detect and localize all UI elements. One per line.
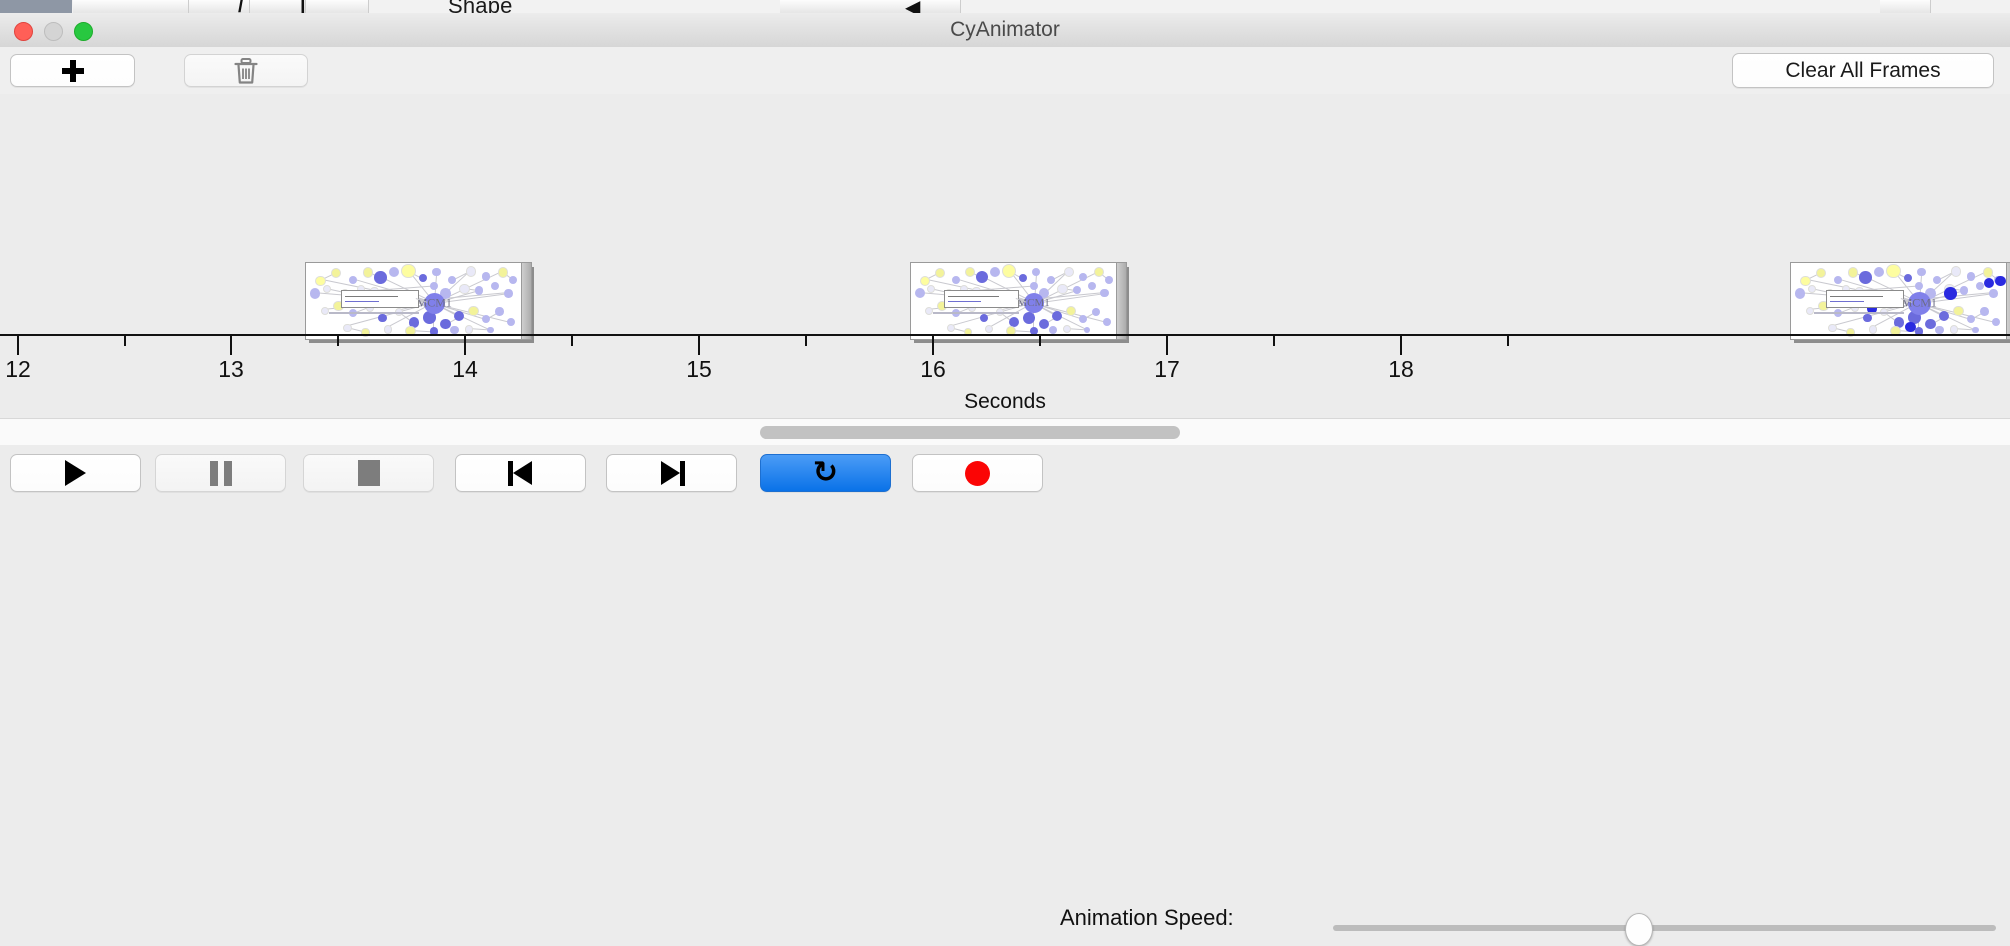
graph-node <box>920 276 930 286</box>
timeline-axis <box>0 334 2010 336</box>
axis-tick-minor <box>1273 336 1275 346</box>
graph-node <box>349 276 357 284</box>
network-graph: MCM1 <box>306 263 531 339</box>
graph-node <box>374 271 387 284</box>
graph-node <box>985 325 993 333</box>
graph-node <box>1834 276 1842 284</box>
axis-tick-label: 17 <box>1154 356 1180 383</box>
graph-node <box>454 311 465 322</box>
graph-node <box>1983 267 1993 277</box>
graph-node <box>1953 306 1963 316</box>
graph-node <box>915 288 925 298</box>
timeline-scrollbar[interactable] <box>0 418 2010 446</box>
graph-node <box>430 282 438 290</box>
graph-node <box>468 306 478 316</box>
graph-node <box>1032 268 1040 276</box>
annotation-text-line <box>345 296 399 297</box>
graph-node <box>1816 268 1826 278</box>
graph-node <box>927 285 935 293</box>
axis-tick-minor <box>571 336 573 346</box>
axis-tick-major <box>1400 336 1402 355</box>
annotation-text-line <box>1830 296 1884 297</box>
graph-caption-text <box>933 312 1019 314</box>
axis-tick-major <box>464 336 466 355</box>
graph-node <box>1049 326 1057 334</box>
axis-tick-minor <box>1507 336 1509 346</box>
graph-node <box>1800 276 1810 286</box>
graph-node <box>459 284 469 294</box>
axis-tick-minor <box>805 336 807 346</box>
axis-tick-major <box>230 336 232 355</box>
axis-tick-major <box>17 336 19 355</box>
clear-all-frames-button[interactable]: Clear All Frames <box>1732 53 1994 88</box>
axis-tick-minor <box>124 336 126 346</box>
graph-node <box>1105 276 1113 284</box>
graph-node <box>1967 272 1975 280</box>
graph-node <box>1869 325 1877 333</box>
axis-tick-major <box>932 336 934 355</box>
graph-node <box>947 324 955 332</box>
graph-node <box>482 272 490 280</box>
graph-node <box>976 271 988 283</box>
graph-node-highlight <box>1995 276 2006 287</box>
animation-speed-label: Animation Speed: <box>1060 905 1234 931</box>
graph-node <box>1917 268 1925 276</box>
graph-node <box>310 288 321 299</box>
graph-node <box>1063 325 1071 333</box>
graph-node <box>440 319 451 330</box>
graph-node-highlight <box>1905 322 1916 333</box>
axis-tick-label: 12 <box>5 356 31 383</box>
graph-node <box>1057 284 1067 294</box>
graph-node <box>384 325 392 333</box>
graph-hub-label: MCM1 <box>1017 297 1049 309</box>
graph-node <box>1092 308 1100 316</box>
add-frame-button[interactable] <box>10 54 135 87</box>
graph-node <box>343 324 351 332</box>
graph-node <box>498 267 508 277</box>
graph-node <box>450 326 458 334</box>
title-bar: CyAnimator <box>0 13 2010 48</box>
graph-node <box>1925 319 1936 330</box>
trash-icon <box>233 57 259 85</box>
graph-node <box>419 274 427 282</box>
graph-node <box>1079 315 1087 323</box>
animation-speed-slider-track[interactable] <box>1333 925 1996 931</box>
graph-node <box>1039 319 1049 329</box>
graph-node <box>1100 289 1108 297</box>
graph-node <box>952 276 960 284</box>
graph-node-highlight <box>1984 278 1995 289</box>
graph-node <box>1064 267 1074 277</box>
graph-node <box>1052 311 1062 321</box>
skip-back-icon <box>508 461 534 486</box>
graph-node <box>432 268 440 276</box>
graph-node <box>363 267 373 277</box>
graph-node <box>401 264 416 279</box>
frame-thumbnail-2[interactable]: MCM1 <box>910 262 1125 338</box>
graph-node <box>1863 314 1871 322</box>
loop-button[interactable]: ↻ <box>760 454 891 492</box>
graph-node <box>1084 327 1090 333</box>
background-window-dark-segment <box>0 0 72 13</box>
graph-node <box>465 325 473 333</box>
graph-node <box>1047 276 1055 284</box>
background-window-segment <box>780 0 961 13</box>
graph-node <box>507 318 515 326</box>
network-graph: MCM1 <box>1791 263 2010 339</box>
play-icon <box>65 460 86 486</box>
graph-node <box>323 285 331 293</box>
background-window-segment <box>250 0 306 13</box>
frame-edge-tab <box>1116 262 1127 340</box>
graph-node <box>1972 327 1978 333</box>
graph-node <box>466 266 476 276</box>
graph-node <box>1030 282 1038 290</box>
graph-node <box>331 268 341 278</box>
network-graph: MCM1 <box>911 263 1126 339</box>
graph-node <box>487 327 493 333</box>
axis-tick-label: 16 <box>920 356 946 383</box>
axis-tick-label: 18 <box>1388 356 1414 383</box>
graph-node <box>315 276 325 286</box>
axis-tick-major <box>1166 336 1168 355</box>
scrollbar-thumb[interactable] <box>760 426 1180 439</box>
delete-frame-button[interactable] <box>184 54 308 87</box>
graph-node <box>389 267 400 278</box>
graph-node <box>1874 267 1885 278</box>
graph-caption-text <box>1814 312 1904 314</box>
graph-node <box>504 289 512 297</box>
animation-speed-slider-thumb[interactable] <box>1625 913 1653 946</box>
graph-node <box>1859 271 1872 284</box>
graph-node <box>990 267 1000 277</box>
graph-node <box>1967 315 1975 323</box>
graph-node <box>935 268 945 278</box>
graph-node <box>1886 264 1901 279</box>
axis-tick-label: 13 <box>218 356 244 383</box>
graph-node <box>1023 312 1035 324</box>
axis-title: Seconds <box>0 390 2010 414</box>
background-window-segment <box>1880 0 1931 13</box>
frame-image: MCM1 <box>1790 262 2010 340</box>
axis-tick-major <box>698 336 700 355</box>
pause-button[interactable] <box>155 454 286 492</box>
background-window-strip: / | ◀ Shape <box>0 0 2010 14</box>
plus-icon <box>62 60 84 82</box>
record-button[interactable] <box>912 454 1043 492</box>
graph-node <box>378 314 386 322</box>
frame-thumbnail-1[interactable]: MCM1 <box>305 262 530 338</box>
stop-icon <box>358 460 380 486</box>
graph-node <box>1980 307 1988 315</box>
annotation-text-line <box>948 301 981 302</box>
graph-node <box>1935 326 1943 334</box>
graph-node <box>965 267 975 277</box>
graph-caption-text <box>329 312 419 314</box>
background-window-segment <box>306 0 369 13</box>
graph-node <box>482 315 490 323</box>
next-frame-button[interactable] <box>606 454 737 492</box>
cyanimator-window: / | ◀ Shape CyAnimator Clear All F <box>0 0 2010 510</box>
graph-node <box>1950 325 1958 333</box>
graph-node <box>1904 274 1912 282</box>
graph-annotation-box <box>1826 290 1905 307</box>
graph-node <box>1960 286 1968 294</box>
axis-tick-label: 14 <box>452 356 478 383</box>
graph-node <box>1073 286 1081 294</box>
frame-image: MCM1 <box>305 262 532 340</box>
frame-edge-tab <box>521 262 532 340</box>
frame-thumbnail-3[interactable]: MCM1 <box>1790 262 2010 338</box>
previous-frame-button[interactable] <box>455 454 586 492</box>
graph-node <box>1019 274 1027 282</box>
graph-annotation-box <box>341 290 420 307</box>
annotation-text-line <box>948 296 999 297</box>
toolbar: Clear All Frames <box>0 47 2010 95</box>
background-window-shape-label: Shape <box>448 0 513 14</box>
graph-node <box>1828 324 1836 332</box>
axis-tick-label: 15 <box>686 356 712 383</box>
annotation-text-line <box>345 301 379 302</box>
stop-button[interactable] <box>303 454 434 492</box>
graph-node <box>1002 264 1016 278</box>
axis-tick-minor <box>337 336 339 346</box>
frame-edge-tab <box>2006 262 2010 340</box>
pause-icon <box>210 461 232 486</box>
graph-node <box>475 286 483 294</box>
graph-node <box>1848 267 1858 277</box>
skip-forward-icon <box>659 461 685 486</box>
graph-node <box>1079 273 1087 281</box>
play-button[interactable] <box>10 454 141 492</box>
graph-node <box>491 282 499 290</box>
graph-node <box>1992 318 2000 326</box>
graph-node <box>980 314 988 322</box>
graph-node <box>1808 285 1816 293</box>
annotation-text-line <box>1830 301 1864 302</box>
window-title: CyAnimator <box>0 13 2010 47</box>
loop-icon: ↻ <box>813 459 838 487</box>
graph-node <box>1088 282 1096 290</box>
graph-node <box>1795 288 1806 299</box>
graph-node <box>1915 282 1923 290</box>
graph-node <box>1951 266 1961 276</box>
graph-node <box>1989 289 1997 297</box>
timeline-panel[interactable]: MCM1 MCM1 MCM1 12131415161718 Seconds <box>0 94 2010 418</box>
graph-node <box>509 276 517 284</box>
graph-node-highlight <box>1944 287 1957 300</box>
background-window-segment <box>73 0 189 13</box>
graph-hub-label: MCM1 <box>1902 296 1937 311</box>
frame-image: MCM1 <box>910 262 1127 340</box>
graph-node <box>1976 282 1984 290</box>
playback-controls: ↻ Animation Speed: <box>0 445 2010 510</box>
graph-annotation-box <box>944 290 1019 307</box>
axis-tick-minor <box>1039 336 1041 346</box>
graph-node <box>495 307 503 315</box>
graph-node <box>1103 318 1111 326</box>
graph-node <box>1939 311 1950 322</box>
graph-hub-label: MCM1 <box>417 296 452 311</box>
record-icon <box>965 461 990 486</box>
